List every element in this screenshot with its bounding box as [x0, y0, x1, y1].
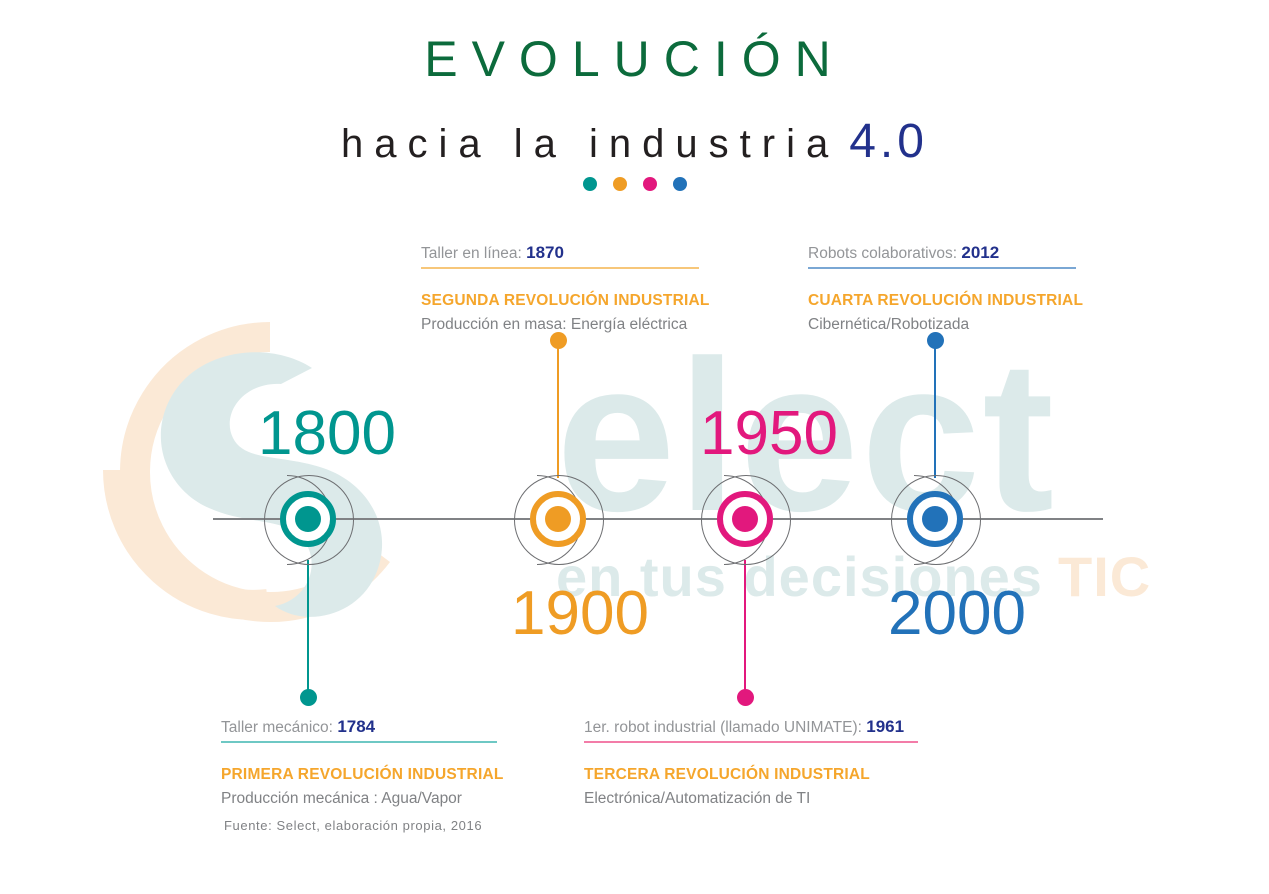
connector-dot-primera: [300, 689, 317, 706]
page-title: EVOLUCIÓN: [0, 34, 1269, 84]
info-block-primera: Taller mecánico: 1784 PRIMERA REVOLUCIÓN…: [221, 716, 497, 810]
node-core-dot: [922, 506, 948, 532]
info-event-tercera: 1er. robot industrial (llamado UNIMATE):…: [584, 716, 918, 737]
connector-line-primera: [307, 560, 309, 696]
page-subtitle: hacia la industria: [341, 122, 839, 166]
info-event-cuarta: Robots colaborativos: 2012: [808, 242, 1076, 263]
info-title-tercera: TERCERA REVOLUCIÓN INDUSTRIAL: [584, 765, 918, 785]
info-event-label: 1er. robot industrial (llamado UNIMATE):: [584, 719, 862, 736]
info-desc-cuarta: Cibernética/Robotizada: [808, 314, 1076, 336]
info-desc-tercera: Electrónica/Automatización de TI: [584, 788, 918, 810]
year-label-1950: 1950: [700, 403, 838, 465]
year-label-1800: 1800: [258, 403, 396, 465]
info-desc-primera: Producción mecánica : Agua/Vapor: [221, 788, 497, 810]
svg-text:TIC: TIC: [1058, 545, 1151, 608]
info-title-cuarta: CUARTA REVOLUCIÓN INDUSTRIAL: [808, 291, 1076, 311]
info-event-year: 1870: [526, 243, 564, 262]
info-rule-segunda: [421, 267, 699, 269]
dot-blue-icon: [673, 177, 687, 191]
year-label-1900: 1900: [511, 583, 649, 645]
info-rule-primera: [221, 741, 497, 743]
connector-line-cuarta: [934, 343, 936, 478]
page-version: 4.0: [849, 115, 928, 168]
source-note: Fuente: Select, elaboración propia, 2016: [224, 818, 482, 833]
connector-line-segunda: [557, 343, 559, 478]
info-title-primera: PRIMERA REVOLUCIÓN INDUSTRIAL: [221, 765, 497, 785]
info-event-year: 1961: [866, 717, 904, 736]
dot-orange-icon: [613, 177, 627, 191]
info-event-year: 2012: [961, 243, 999, 262]
info-block-tercera: 1er. robot industrial (llamado UNIMATE):…: [584, 716, 918, 810]
node-core-dot: [545, 506, 571, 532]
info-event-label: Taller en línea:: [421, 245, 522, 262]
info-rule-cuarta: [808, 267, 1076, 269]
infographic-canvas: elect en tus decisiones TIC EVOLUCIÓN ha…: [0, 0, 1269, 894]
info-title-segunda: SEGUNDA REVOLUCIÓN INDUSTRIAL: [421, 291, 699, 311]
accent-dot-row: [0, 177, 1269, 191]
dot-magenta-icon: [643, 177, 657, 191]
info-event-label: Robots colaborativos:: [808, 245, 957, 262]
info-event-year: 1784: [337, 717, 375, 736]
connector-dot-tercera: [737, 689, 754, 706]
node-core-dot: [732, 506, 758, 532]
node-core-dot: [295, 506, 321, 532]
info-event-segunda: Taller en línea: 1870: [421, 242, 699, 263]
info-block-cuarta: Robots colaborativos: 2012 CUARTA REVOLU…: [808, 242, 1076, 336]
info-block-segunda: Taller en línea: 1870 SEGUNDA REVOLUCIÓN…: [421, 242, 699, 336]
info-event-label: Taller mecánico:: [221, 719, 333, 736]
info-rule-tercera: [584, 741, 918, 743]
info-desc-segunda: Producción en masa: Energía eléctrica: [421, 314, 699, 336]
dot-teal-icon: [583, 177, 597, 191]
page-subtitle-row: hacia la industria4.0: [0, 118, 1269, 166]
year-label-2000: 2000: [888, 583, 1026, 645]
info-event-primera: Taller mecánico: 1784: [221, 716, 497, 737]
connector-line-tercera: [744, 560, 746, 696]
